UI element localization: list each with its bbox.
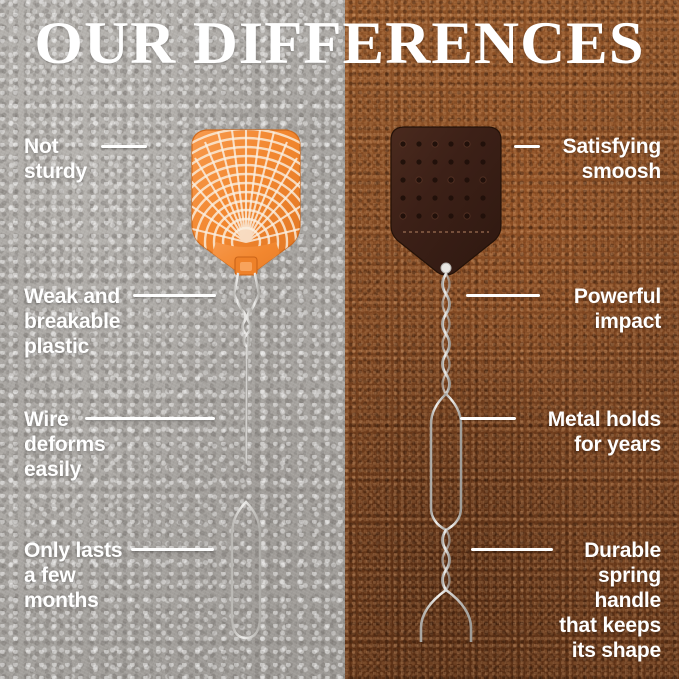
spring-grip-loop [421,590,471,642]
leader-left-3 [85,417,215,420]
thin-wire-handle [234,274,259,502]
leader-right-2 [466,294,540,297]
leader-left-2 [133,294,216,297]
comparison-infographic: OUR DIFFERENCES [0,0,679,679]
leader-right-3 [460,417,516,420]
leader-right-1 [514,145,540,148]
leader-left-4 [131,548,214,551]
wire-bottom-loop [232,502,260,638]
callout-left-4: Only lasts a few months [24,538,144,613]
twisted-wire-handle [431,274,461,590]
callout-right-4: Durable spring handle that keeps its sha… [511,538,661,663]
leather-swatter-head [391,127,501,275]
callout-right-3: Metal holds for years [501,407,661,457]
callout-right-2: Powerful impact [521,284,661,334]
callout-left-1: Not sturdy [24,134,114,184]
callout-left-2: Weak and breakable plastic [24,284,144,359]
callout-right-1: Satisfying smoosh [521,134,661,184]
leader-left-1 [101,145,147,148]
leader-right-4 [471,548,553,551]
brown-leather-swatter [381,122,513,642]
orange-plastic-swatter [176,124,316,644]
metal-rivet [441,263,451,273]
page-title: OUR DIFFERENCES [0,10,679,76]
